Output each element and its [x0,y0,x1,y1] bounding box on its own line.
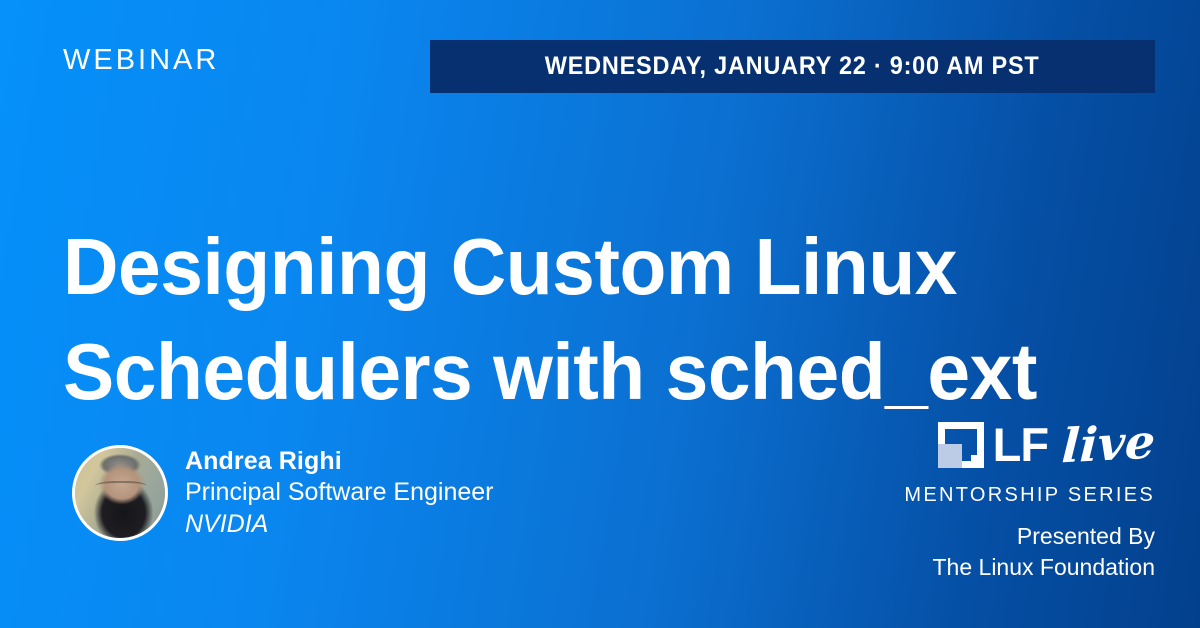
lf-bracket-icon [938,422,984,468]
speaker-name: Andrea Righi [185,446,494,478]
lf-live-script-word: live [1061,420,1157,471]
eyebrow-label: WEBINAR [63,46,219,75]
date-time-banner: WEDNESDAY, JANUARY 22 · 9:00 AM PST [430,40,1155,93]
linux-foundation-label: The Linux Foundation [895,552,1155,583]
date-time-text: WEDNESDAY, JANUARY 22 · 9:00 AM PST [545,52,1040,81]
mentorship-series-label: MENTORSHIP SERIES [895,484,1155,507]
lf-live-logo: LF live [895,418,1155,472]
title-line-1: Designing Custom Linux [63,214,1033,319]
speaker-block: Andrea Righi Principal Software Engineer… [72,445,494,541]
lf-wordmark: LF [993,422,1048,468]
speaker-organization: NVIDIA [185,509,494,541]
speaker-role: Principal Software Engineer [185,477,494,509]
avatar [72,445,168,541]
webinar-promo-card: WEBINAR WEDNESDAY, JANUARY 22 · 9:00 AM … [0,0,1200,628]
lf-bracket-notch [971,455,984,468]
page-title: Designing Custom Linux Schedulers with s… [63,214,1073,424]
speaker-info: Andrea Righi Principal Software Engineer… [185,446,494,541]
lf-bracket-inner-square [938,444,962,468]
presented-by-label: Presented By [895,521,1155,552]
lf-live-branding-block: LF live MENTORSHIP SERIES Presented By T… [895,418,1155,583]
title-line-2: Schedulers with sched_ext [63,319,1033,424]
glasses-icon [95,481,147,494]
